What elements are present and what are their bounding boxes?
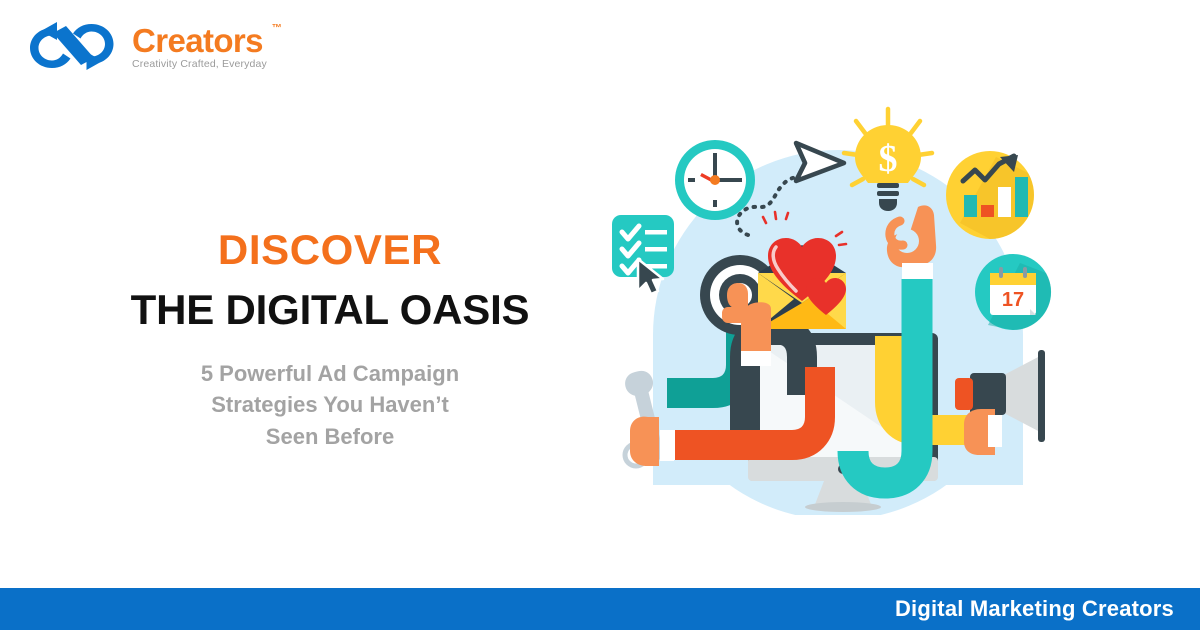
brand-tagline: Creativity Crafted, Everyday	[132, 58, 267, 70]
trademark-symbol: ™	[272, 23, 282, 34]
calendar-day: 17	[1002, 289, 1024, 311]
brand-logo[interactable]: Creators ™ Creativity Crafted, Everyday	[24, 20, 267, 72]
subcopy-line-2: Strategies You Haven’t	[60, 389, 600, 420]
digital-marketing-illustration: $	[600, 95, 1070, 515]
pointing-finger	[727, 283, 748, 308]
svg-text:$: $	[879, 138, 898, 180]
brand-name: Creators	[132, 24, 263, 57]
subcopy-line-1: 5 Powerful Ad Campaign	[60, 358, 600, 389]
footer-bar: Digital Marketing Creators	[0, 588, 1200, 630]
subcopy-line-3: Seen Before	[60, 421, 600, 452]
marketing-banner: Creators ™ Creativity Crafted, Everyday …	[0, 0, 1200, 630]
growth-chart-icon	[946, 151, 1034, 239]
calendar-icon: 17	[975, 254, 1051, 330]
infinity-arrows-logo-icon	[24, 20, 122, 72]
hero-kicker: DISCOVER	[60, 228, 600, 272]
page-title: THE DIGITAL OASIS	[60, 288, 600, 332]
clock-icon	[675, 140, 755, 220]
hero-copy: DISCOVER THE DIGITAL OASIS 5 Powerful Ad…	[60, 228, 600, 452]
footer-label: Digital Marketing Creators	[895, 596, 1174, 622]
hero-subcopy: 5 Powerful Ad Campaign Strategies You Ha…	[60, 358, 600, 452]
